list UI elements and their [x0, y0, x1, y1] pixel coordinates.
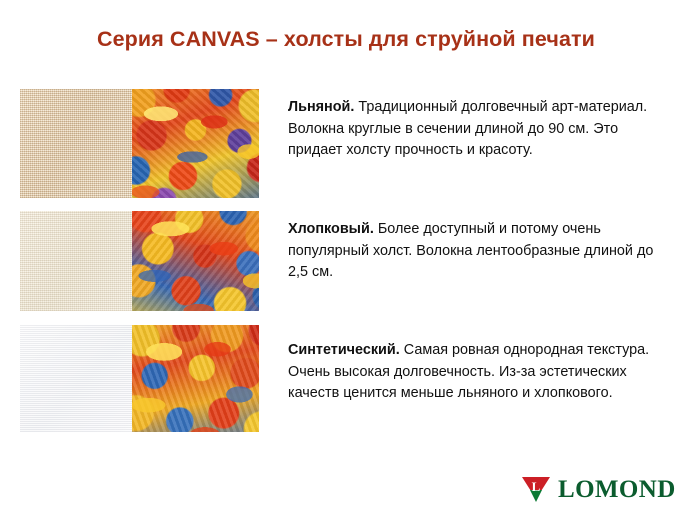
cotton-canvas-texture-swatch	[20, 211, 132, 311]
lomond-logo: L LOMOND	[521, 474, 676, 504]
description-synthetic: Синтетический. Самая ровная однородная т…	[288, 340, 660, 405]
svg-text:L: L	[532, 479, 541, 494]
lomond-triangle-icon: L	[521, 475, 551, 503]
abstract-paint-print-sample-synthetic	[132, 325, 259, 432]
description-cotton: Хлопковый. Более доступный и потому очен…	[288, 219, 660, 284]
lomond-wordmark: LOMOND	[558, 477, 676, 502]
description-heading-cotton: Хлопковый.	[288, 221, 374, 237]
linen-canvas-texture-swatch	[20, 89, 132, 198]
abstract-paint-print-sample-cotton	[132, 211, 259, 311]
description-heading-synthetic: Синтетический.	[288, 342, 400, 358]
canvas-sample-row-synthetic	[20, 325, 259, 432]
swatch-pair	[20, 325, 259, 432]
abstract-paint-print-sample-linen	[132, 89, 259, 198]
swatch-pair	[20, 89, 259, 198]
canvas-sample-row-linen	[20, 89, 259, 198]
description-heading-linen: Льняной.	[288, 99, 354, 115]
canvas-sample-row-cotton	[20, 211, 259, 311]
swatch-pair	[20, 211, 259, 311]
page-title: Серия CANVAS – холсты для струйной печат…	[0, 27, 692, 52]
synthetic-canvas-texture-swatch	[20, 325, 132, 432]
description-linen: Льняной. Традиционный долговечный арт-ма…	[288, 97, 660, 162]
